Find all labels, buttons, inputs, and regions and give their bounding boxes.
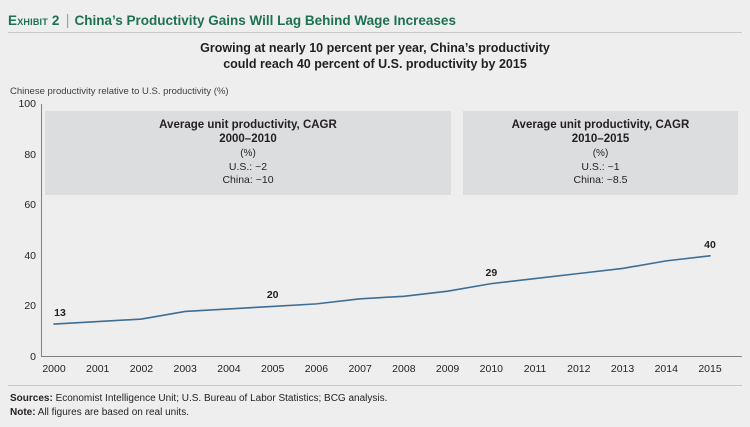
footnote-note: Note: All figures are based on real unit… [10,406,387,420]
point-label-2015: 40 [704,239,716,251]
line-series-chinese-productivity [41,104,742,357]
footnote-sources-text: Economist Intelligence Unit; U.S. Bureau… [53,393,388,404]
y-tick-0: 0 [30,351,36,363]
exhibit-number-label: Exhibit 2 [8,13,60,28]
x-tick-2001: 2001 [86,363,109,375]
x-tick-2010: 2010 [480,363,503,375]
x-tick-2005: 2005 [261,363,284,375]
footnotes: Sources: Economist Intelligence Unit; U.… [10,392,387,420]
footnote-sources-key: Sources: [10,393,53,404]
x-tick-2002: 2002 [130,363,153,375]
x-tick-2007: 2007 [348,363,371,375]
chart-subtitle-line-2: could reach 40 percent of U.S. productiv… [75,56,675,72]
y-tick-60: 60 [24,199,36,211]
point-label-2010: 29 [485,267,497,279]
point-label-2005: 20 [267,289,279,301]
x-tick-2008: 2008 [392,363,415,375]
x-tick-2015: 2015 [698,363,721,375]
point-label-2000: 13 [54,307,66,319]
chart-subtitle: Growing at nearly 10 percent per year, C… [75,40,675,72]
x-tick-2011: 2011 [524,363,547,375]
chart-subtitle-line-1: Growing at nearly 10 percent per year, C… [75,40,675,56]
x-tick-2003: 2003 [174,363,197,375]
y-tick-100: 100 [18,98,36,110]
series-polyline [54,256,710,324]
y-tick-20: 20 [24,300,36,312]
footnote-note-text: All figures are based on real units. [36,407,189,418]
exhibit-header: Exhibit 2 | China’s Productivity Gains W… [8,8,742,32]
header-divider: | [66,13,70,28]
footnote-sources: Sources: Economist Intelligence Unit; U.… [10,392,387,406]
footnote-note-key: Note: [10,407,36,418]
chart-plot-area: 020406080100 200020012002200320042005200… [41,104,742,357]
x-tick-2014: 2014 [655,363,678,375]
x-tick-2000: 2000 [42,363,65,375]
x-tick-2004: 2004 [217,363,240,375]
page-title: China’s Productivity Gains Will Lag Behi… [74,13,455,28]
x-tick-2009: 2009 [436,363,459,375]
y-tick-80: 80 [24,149,36,161]
y-tick-40: 40 [24,250,36,262]
x-tick-2013: 2013 [611,363,634,375]
x-tick-2006: 2006 [305,363,328,375]
footnote-divider-rule [8,385,742,386]
y-axis-unit-label: Chinese productivity relative to U.S. pr… [10,86,229,97]
x-tick-2012: 2012 [567,363,590,375]
header-divider-rule [8,32,742,33]
